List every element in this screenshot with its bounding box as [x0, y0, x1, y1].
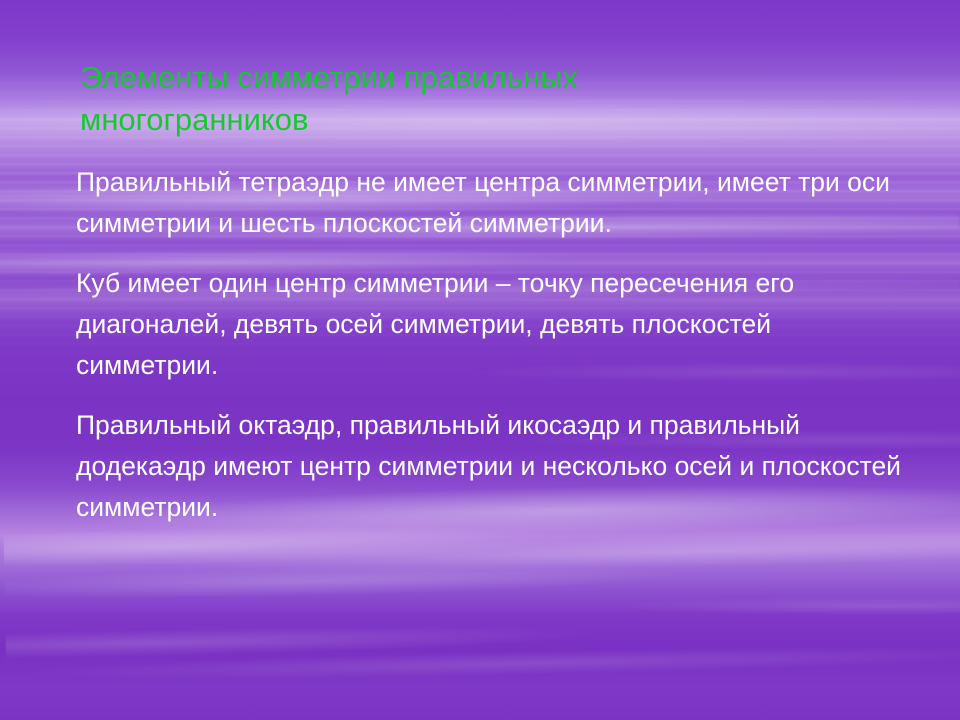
slide-title: Элементы симметрии правильных многогранн… — [80, 57, 780, 141]
presentation-slide: Элементы симметрии правильных многогранн… — [0, 0, 960, 720]
slide-content: Элементы симметрии правильных многогранн… — [0, 0, 960, 720]
body-paragraph-3: Правильный октаэдр, правильный икосаэдр … — [76, 405, 910, 528]
body-paragraph-1: Правильный тетраэдр не имеет центра симм… — [76, 162, 910, 244]
body-paragraph-2: Куб имеет один центр симметрии – точку п… — [76, 263, 910, 386]
slide-body: Правильный тетраэдр не имеет центра симм… — [76, 162, 910, 528]
